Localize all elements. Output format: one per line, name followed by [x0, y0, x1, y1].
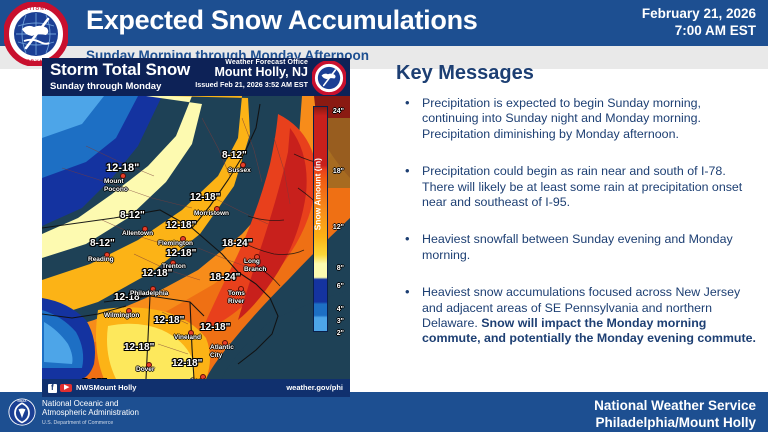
snow-label: 12-18" [200, 322, 230, 333]
map-footer-bar: f ▶ NWSMount Holly weather.gov/phi [42, 379, 350, 397]
city-label: Dover [136, 366, 154, 374]
key-messages-panel: Key Messages Precipitation is expected t… [396, 62, 756, 369]
key-message-text: Heaviest snowfall between Sunday evening… [422, 232, 733, 261]
snow-label: 12-18" [166, 220, 196, 231]
department-label: U.S. Department of Commerce [42, 420, 113, 426]
colorbar-tick: 8" [337, 265, 344, 272]
weather-forecast-office-block: Weather Forecast Office Mount Holly, NJ … [195, 59, 308, 89]
city-label: Trenton [162, 263, 186, 271]
city-label: Sussex [228, 167, 251, 175]
map-issued-time: Issued Feb 21, 2026 3:52 AM EST [195, 80, 308, 89]
snow-label: 8-12" [222, 150, 247, 161]
service-line-1: National Weather Service [594, 398, 756, 415]
snow-label: 18-24" [210, 272, 240, 283]
wfo-name: Mount Holly, NJ [195, 65, 308, 79]
noaa-agency-name: National Oceanic and Atmospheric Adminis… [42, 399, 139, 418]
page-title: Expected Snow Accumulations [86, 5, 477, 36]
youtube-icon[interactable]: ▶ [60, 384, 72, 392]
map-canvas: 12-18" 8-12" 12-18" 8-12" 12-18" 8-12" 1… [42, 58, 350, 397]
city-label: LongBranch [244, 258, 266, 273]
snow-label: 12-18" [172, 358, 202, 369]
key-messages-title: Key Messages [396, 62, 756, 85]
colorbar-title: Snow Amount (in) [312, 158, 322, 230]
map-title: Storm Total Snow [50, 60, 190, 80]
snow-label: 8-12" [90, 238, 115, 249]
nws-seal-icon: N A T I O N A L S E R V I C E [4, 2, 68, 66]
weather-graphic-page: N A T I O N A L S E R V I C E Expected S… [0, 0, 768, 432]
header-datetime: February 21, 2026 7:00 AM EST [642, 5, 756, 39]
city-label: Allentown [122, 230, 153, 238]
colorbar-tick: 2" [337, 330, 344, 337]
snow-label: 18-24" [222, 238, 252, 249]
city-label: Flemington [158, 240, 193, 248]
key-message-text: Precipitation is expected to begin Sunda… [422, 96, 701, 141]
colorbar-tick: 3" [337, 318, 344, 325]
facebook-icon[interactable]: f [48, 384, 57, 393]
snow-label: 12-18" [124, 342, 154, 353]
key-message-item: Precipitation could begin as rain near a… [396, 164, 756, 210]
header-date: February 21, 2026 [642, 5, 756, 22]
map-header-bar: Storm Total Snow Sunday through Monday W… [42, 58, 350, 96]
page-footer: NOAA National Oceanic and Atmospheric Ad… [0, 392, 768, 432]
agency-line-1: National Oceanic and [42, 399, 139, 408]
service-line-2: Philadelphia/Mount Holly [594, 415, 756, 432]
city-label: Vineland [174, 334, 201, 342]
key-message-text: Precipitation could begin as rain near a… [422, 164, 742, 209]
key-message-item: Precipitation is expected to begin Sunda… [396, 96, 756, 142]
noaa-seal-icon: NOAA [8, 398, 36, 426]
snow-map-panel[interactable]: Storm Total Snow Sunday through Monday W… [42, 58, 350, 397]
snow-label: 12-18" [190, 192, 220, 203]
nws-seal-icon [312, 61, 346, 95]
city-label: AtlanticCity [210, 344, 234, 359]
svg-text:NOAA: NOAA [18, 399, 28, 403]
colorbar-tick: 24" [333, 108, 344, 115]
key-message-item: Heaviest snowfall between Sunday evening… [396, 232, 756, 263]
colorbar-tick: 12" [333, 224, 344, 231]
website-url[interactable]: weather.gov/phi [286, 383, 343, 392]
social-handle: NWSMount Holly [76, 383, 136, 392]
snow-label: 8-12" [120, 210, 145, 221]
key-messages-list: Precipitation is expected to begin Sunda… [396, 96, 756, 347]
header-time: 7:00 AM EST [642, 22, 756, 39]
key-message-item: Heaviest snow accumulations focused acro… [396, 285, 756, 347]
city-label: Wilmington [104, 312, 139, 320]
nws-office-label: National Weather Service Philadelphia/Mo… [594, 398, 756, 431]
agency-line-2: Atmospheric Administration [42, 408, 139, 417]
snow-label: 12-18" [166, 248, 196, 259]
city-label: Morristown [194, 210, 229, 218]
map-subtitle: Sunday through Monday [50, 81, 161, 92]
city-label: Reading [88, 256, 114, 264]
snow-label: 12-18" [154, 315, 184, 326]
colorbar-tick: 4" [337, 306, 344, 313]
city-label: Philadelphia [130, 290, 168, 298]
colorbar-tick: 18" [333, 168, 344, 175]
colorbar-tick: 6" [337, 283, 344, 290]
city-label: TomsRiver [228, 290, 245, 305]
city-label: MountPocono [104, 178, 128, 193]
svg-text:N A T I O N A L: N A T I O N A L [20, 6, 52, 11]
